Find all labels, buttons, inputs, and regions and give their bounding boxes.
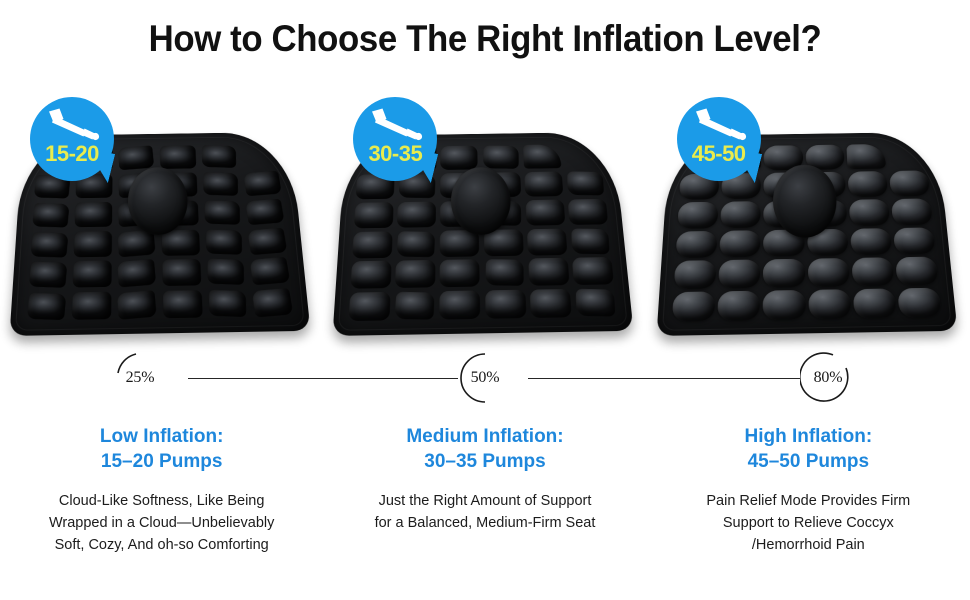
caption-body-high: Pain Relief Mode Provides Firm Support t… [663, 490, 954, 557]
meter-connector-line-2 [528, 378, 800, 379]
caption-heading-high: High Inflation: 45–50 Pumps [663, 424, 954, 475]
product-image-row: 15-20 [0, 95, 970, 345]
inflation-badge-low: 15-20 [30, 97, 114, 181]
badge-value-high: 45-50 [677, 141, 761, 167]
meter-connector-line-1 [188, 378, 458, 379]
inflation-badge-medium: 30-35 [353, 97, 437, 181]
caption-column-low: Low Inflation: 15–20 Pumps Cloud-Like So… [0, 424, 323, 557]
badge-value-low: 15-20 [30, 141, 114, 167]
percent-label-50: 50% [457, 352, 513, 404]
caption-column-medium: Medium Inflation: 30–35 Pumps Just the R… [323, 424, 646, 557]
badge-value-medium: 30-35 [353, 141, 437, 167]
product-column-high: 45-50 [647, 95, 970, 345]
caption-body-low: Cloud-Like Softness, Like Being Wrapped … [16, 490, 307, 557]
caption-column-high: High Inflation: 45–50 Pumps Pain Relief … [647, 424, 970, 557]
product-column-medium: 30-35 [323, 95, 646, 345]
caption-row: Low Inflation: 15–20 Pumps Cloud-Like So… [0, 424, 970, 557]
caption-heading-medium: Medium Inflation: 30–35 Pumps [339, 424, 630, 475]
percent-label-25: 25% [112, 352, 168, 404]
caption-body-medium: Just the Right Amount of Support for a B… [339, 490, 630, 535]
page-title: How to Choose The Right Inflation Level? [29, 18, 941, 60]
product-column-low: 15-20 [0, 95, 323, 345]
inflation-badge-high: 45-50 [677, 97, 761, 181]
inflation-meter-row: 25% 50% 80% [0, 352, 970, 404]
cushion-image-medium: 30-35 [323, 95, 646, 345]
infographic-page: How to Choose The Right Inflation Level? [0, 0, 970, 600]
air-pump-icon [369, 108, 423, 142]
percent-marker-50: 50% [457, 352, 521, 404]
cushion-image-low: 15-20 [0, 95, 323, 345]
percent-marker-80: 80% [800, 352, 864, 404]
percent-label-80: 80% [800, 352, 856, 404]
air-pump-icon [46, 108, 100, 142]
cushion-image-high: 45-50 [647, 95, 970, 345]
caption-heading-low: Low Inflation: 15–20 Pumps [16, 424, 307, 475]
percent-marker-25: 25% [112, 352, 176, 404]
air-pump-icon [693, 108, 747, 142]
